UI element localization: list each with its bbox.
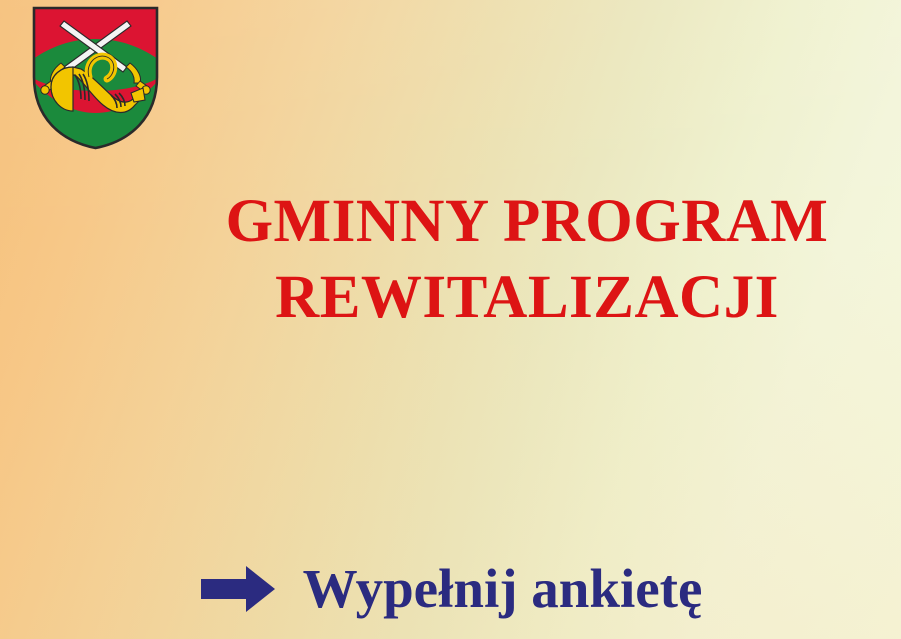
- title-line-1: GMINNY PROGRAM: [226, 188, 829, 255]
- title-line-2: REWITALIZACJI: [168, 260, 886, 336]
- page-title: GMINNY PROGRAM REWITALIZACJI: [168, 184, 886, 336]
- list-item-label: Wypełnij ankietę: [303, 560, 703, 618]
- right-arrow-icon: [199, 564, 277, 614]
- poster-canvas: GMINNY PROGRAM REWITALIZACJI Wypełnij an…: [0, 0, 901, 639]
- coat-of-arms-svg: [31, 5, 160, 151]
- list-item[interactable]: Wypełnij ankietę: [0, 550, 901, 628]
- coat-of-arms: [31, 5, 160, 151]
- list-item[interactable]: Zgłoś projekt: [0, 624, 901, 639]
- list-item-label: Zgłoś projekt: [345, 634, 660, 639]
- call-to-action-list: Wypełnij ankietę Zgłoś projekt: [0, 550, 901, 639]
